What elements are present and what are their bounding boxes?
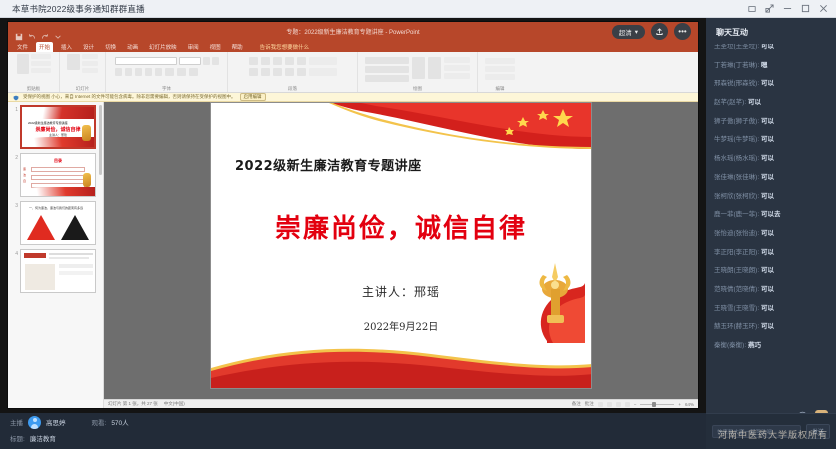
- list-item: 丁若琳(丁若琳): 嗯: [714, 63, 828, 70]
- quality-label: 超清: [619, 27, 632, 37]
- tab-home[interactable]: 开始: [36, 42, 53, 52]
- current-slide[interactable]: 2022级新生廉洁教育专题讲座 崇廉尚俭，诚信自律 主讲人：邢瑶 2022年9月…: [210, 102, 592, 389]
- chat-header: 聊天互动: [706, 18, 836, 44]
- list-item[interactable]: 2 目录 廉洁自: [10, 153, 101, 197]
- topic-label: 标题:: [10, 433, 25, 443]
- new-slide-icon[interactable]: [67, 54, 80, 70]
- popout-icon[interactable]: [765, 4, 774, 13]
- normal-view-icon[interactable]: [598, 402, 603, 407]
- slideshow-view-icon[interactable]: [625, 402, 630, 407]
- list-item: 赵芊(赵芊): 可以: [714, 100, 828, 107]
- tab-view[interactable]: 视图: [207, 42, 224, 52]
- ribbon-group-drawing: 绘图: [358, 52, 478, 92]
- avatar[interactable]: [28, 416, 41, 429]
- bold-icon[interactable]: [115, 68, 122, 76]
- chat-sender: 鹿一菲(鹿一菲):: [714, 211, 759, 218]
- character-spacing-icon[interactable]: [165, 68, 174, 76]
- window-title: 本草书院2022级事务通知群群直播: [12, 3, 145, 15]
- find-icon[interactable]: [485, 58, 515, 64]
- protected-view-bar: 受保护的视图 小心，来自 Internet 的文件可能包含病毒。除非您需要编辑，…: [8, 93, 698, 102]
- chevron-down-icon: ▾: [635, 28, 638, 36]
- chat-sender: 邢森锐(邢森锐):: [714, 80, 759, 87]
- ribbon-group-label: 编辑: [496, 86, 505, 92]
- more-options-button[interactable]: •••: [674, 23, 691, 40]
- chat-text: 可以: [761, 193, 774, 200]
- chat-text: 可以: [761, 323, 774, 330]
- chat-text: 可以: [761, 44, 774, 50]
- slide-main-title: 崇廉尚俭，诚信自律: [211, 208, 591, 245]
- list-item: 邢森锐(邢森锐): 可以: [714, 81, 828, 88]
- slide-thumbnail-1[interactable]: 2022级新生廉洁教育专题讲座 崇廉尚俭，诚信自律 主讲人：邢瑶: [20, 105, 96, 149]
- ribbon-group-label: 绘图: [413, 86, 422, 92]
- minimize-icon[interactable]: [783, 4, 792, 13]
- list-item: 张佳琳(张佳琳): 可以: [714, 175, 828, 182]
- slide-canvas-area[interactable]: 2022级新生廉洁教育专题讲座 崇廉尚俭，诚信自律 主讲人：邢瑶 2022年9月…: [104, 102, 698, 408]
- chat-input[interactable]: 快来和大家一起互动吧: [712, 425, 801, 438]
- share-button[interactable]: [651, 23, 668, 40]
- chat-text: 燕巧: [748, 342, 761, 349]
- chat-sender: 杨水瑶(杨水瑶):: [714, 155, 759, 162]
- zoom-out-icon[interactable]: −: [634, 402, 637, 407]
- quality-selector[interactable]: 超清 ▾: [612, 25, 645, 39]
- status-right-group: 备注 批注 − + 64%: [572, 401, 694, 407]
- chat-text: 可以: [761, 136, 774, 143]
- list-item: 土圣垃(土圣垃): 可以: [714, 44, 828, 51]
- slide-top-decoration: [211, 103, 591, 149]
- chat-sender: 张柯欣(张柯欣):: [714, 193, 759, 200]
- reading-view-icon[interactable]: [616, 402, 621, 407]
- bullets-icon[interactable]: [249, 57, 258, 65]
- tab-help[interactable]: 帮助: [229, 42, 246, 52]
- italic-icon[interactable]: [125, 68, 132, 76]
- tab-insert[interactable]: 插入: [58, 42, 75, 52]
- decrease-font-icon[interactable]: [212, 57, 219, 65]
- font-name-box[interactable]: [115, 57, 177, 65]
- arrange-icon[interactable]: [412, 57, 425, 79]
- chat-sender: 秦衡(秦衡):: [714, 342, 746, 349]
- powerpoint-window: 专题：2022级新生廉洁教育专题讲座 - PowerPoint 超清 ▾ •••…: [8, 22, 698, 408]
- chat-sender: 范晓倩(范晓倩):: [714, 286, 759, 293]
- host-row: 主播 高思婷 观看: 570人: [0, 413, 706, 431]
- sorter-view-icon[interactable]: [607, 402, 612, 407]
- list-item: 牛梦瑶(牛梦瑶): 可以: [714, 137, 828, 144]
- chat-sender: 狮子傲(狮子傲):: [714, 118, 759, 125]
- chat-sender: 王晓朗(王晓朗):: [714, 267, 759, 274]
- shape-outline-icon[interactable]: [444, 65, 470, 71]
- thumbnail-number: 1: [10, 105, 18, 113]
- slide-thumbnail-pane[interactable]: 1 2022级新生廉洁教育专题讲座 崇廉尚俭，诚信自律 主讲人：邢瑶 2: [8, 102, 104, 408]
- notes-button[interactable]: 备注: [572, 401, 581, 407]
- ribbon-group-font: 字体: [106, 52, 228, 92]
- chat-text: 可以: [748, 99, 761, 106]
- ribbon-group-paragraph: 段落: [228, 52, 358, 92]
- font-size-box[interactable]: [179, 57, 201, 65]
- tab-design[interactable]: 设计: [80, 42, 97, 52]
- redo-icon[interactable]: [41, 28, 49, 36]
- replace-icon[interactable]: [485, 66, 515, 72]
- customize-icon[interactable]: [54, 28, 62, 36]
- shape-effects-icon[interactable]: [444, 73, 470, 79]
- window-controls: [748, 4, 828, 13]
- slide-speaker: 主讲人：邢瑶: [211, 283, 591, 300]
- shapes-gallery-row2[interactable]: [365, 66, 409, 73]
- powerpoint-title-bar: 专题：2022级新生廉洁教育专题讲座 - PowerPoint 超清 ▾ •••: [8, 22, 698, 41]
- ribbon-group-slides: 幻灯片: [60, 52, 106, 92]
- thumbnail-scrollbar[interactable]: [99, 105, 102, 175]
- convert-smartart-icon[interactable]: [309, 68, 337, 76]
- align-right-icon[interactable]: [273, 68, 282, 76]
- numbering-icon[interactable]: [261, 57, 270, 65]
- list-item: 王晓雪(王晓雪): 可以: [714, 306, 828, 313]
- language-indicator[interactable]: 中文(中国): [164, 401, 185, 407]
- zoom-level[interactable]: 64%: [685, 402, 694, 407]
- text-direction-icon[interactable]: [309, 57, 337, 65]
- increase-font-icon[interactable]: [203, 57, 210, 65]
- meeting-actions: 超清 ▾ •••: [612, 23, 691, 40]
- shape-fill-icon[interactable]: [444, 57, 470, 63]
- chat-text: 可以: [761, 80, 774, 87]
- paste-icon[interactable]: [17, 54, 29, 74]
- thumbnail-number: 2: [10, 153, 18, 161]
- tab-transitions[interactable]: 切换: [102, 42, 119, 52]
- list-item[interactable]: 1 2022级新生廉洁教育专题讲座 崇廉尚俭，诚信自律 主讲人：邢瑶: [10, 105, 101, 149]
- ribbon: 剪贴板 幻灯片: [8, 52, 698, 93]
- chat-input-bar: 快来和大家一起互动吧 发送: [706, 413, 836, 449]
- chat-sender: 赵芊(赵芊):: [714, 99, 746, 106]
- format-painter-icon[interactable]: [31, 68, 51, 73]
- enable-editing-button[interactable]: 启用编辑: [240, 93, 266, 101]
- chat-sender: 张怡迪(张怡迪):: [714, 230, 759, 237]
- powerpoint-body: 1 2022级新生廉洁教育专题讲座 崇廉尚俭，诚信自律 主讲人：邢瑶 2: [8, 102, 698, 408]
- increase-indent-icon[interactable]: [285, 57, 294, 65]
- chat-text: 可以: [761, 118, 774, 125]
- slide-bottom-decoration: [211, 340, 591, 388]
- chat-sender: 丁若琳(丁若琳):: [714, 62, 759, 69]
- ribbon-group-label: 字体: [162, 86, 171, 92]
- shapes-gallery-row3[interactable]: [365, 75, 409, 82]
- topic-value: 廉洁教育: [30, 433, 56, 443]
- maximize-icon[interactable]: [801, 4, 810, 13]
- ribbon-group-label: 剪贴板: [27, 86, 41, 92]
- ribbon-group-clipboard: 剪贴板: [8, 52, 60, 92]
- align-center-icon[interactable]: [261, 68, 270, 76]
- chat-text: 可以: [761, 286, 774, 293]
- section-icon[interactable]: [82, 68, 98, 73]
- close-icon[interactable]: [819, 4, 828, 13]
- strikethrough-icon[interactable]: [145, 68, 152, 76]
- zoom-slider-handle[interactable]: [652, 402, 656, 407]
- line-spacing-icon[interactable]: [297, 57, 306, 65]
- thumbnail-number: 4: [10, 249, 18, 257]
- thumbnail-number: 3: [10, 201, 18, 209]
- shapes-gallery-row1[interactable]: [365, 57, 409, 64]
- chat-text: 嗯: [761, 62, 768, 69]
- viewers-count: 570人: [111, 417, 128, 427]
- justify-icon[interactable]: [285, 68, 294, 76]
- font-color-icon[interactable]: [189, 68, 198, 76]
- quick-styles-icon[interactable]: [428, 57, 441, 79]
- slide-thumbnail-4[interactable]: [20, 249, 96, 293]
- powerpoint-document-title: 专题：2022级新生廉洁教育专题讲座 - PowerPoint: [8, 27, 698, 36]
- tab-review[interactable]: 审阅: [185, 42, 202, 52]
- list-item: 赫玉环(赫玉环): 可以: [714, 324, 828, 331]
- list-item: 鹿一菲(鹿一菲): 可以去: [714, 212, 828, 219]
- align-left-icon[interactable]: [249, 68, 258, 76]
- tab-slideshow[interactable]: 幻灯片放映: [146, 42, 180, 52]
- screenshot-icon[interactable]: [748, 5, 756, 13]
- list-item: 张怡迪(张怡迪): 可以: [714, 231, 828, 238]
- slide-thumbnail-2[interactable]: 目录 廉洁自: [20, 153, 96, 197]
- tell-me-search[interactable]: 告诉我您想要做什么: [257, 42, 313, 52]
- window-title-bar: 本草书院2022级事务通知群群直播: [0, 0, 836, 18]
- list-item: 杨水瑶(杨水瑶): 可以: [714, 156, 828, 163]
- layout-icon[interactable]: [82, 54, 98, 59]
- underline-icon[interactable]: [135, 68, 142, 76]
- chat-message-list[interactable]: 土圣垃(土圣垃): 可以 丁若琳(丁若琳): 嗯 邢森锐(邢森锐): 可以 赵芊…: [706, 44, 836, 406]
- protected-view-text: 受保护的视图 小心，来自 Internet 的文件可能包含病毒。除非您需要编辑，…: [23, 94, 236, 100]
- tab-file[interactable]: 文件: [14, 42, 31, 52]
- live-stream-window: 本草书院2022级事务通知群群直播: [0, 0, 836, 449]
- chat-sender: 张佳琳(张佳琳):: [714, 174, 759, 181]
- chat-panel: 聊天互动 土圣垃(土圣垃): 可以 丁若琳(丁若琳): 嗯 邢森锐(邢森锐): …: [706, 18, 836, 449]
- chat-text: 可以: [761, 305, 774, 312]
- chat-sender: 李正阳(李正阳):: [714, 249, 759, 256]
- list-item[interactable]: 3 一、何为廉洁，廉洁与我们的距离有多远: [10, 201, 101, 245]
- chat-sender: 牛梦瑶(牛梦瑶):: [714, 136, 759, 143]
- ribbon-group-label: 段落: [288, 86, 297, 92]
- slide-thumbnail-3[interactable]: 一、何为廉洁，廉洁与我们的距离有多远: [20, 201, 96, 245]
- host-name: 高思婷: [46, 417, 66, 427]
- shared-screen-stage: 专题：2022级新生廉洁教育专题讲座 - PowerPoint 超清 ▾ •••…: [0, 18, 706, 413]
- shadow-icon[interactable]: [155, 68, 162, 76]
- zoom-in-icon[interactable]: +: [678, 402, 681, 407]
- chat-text: 可以: [761, 249, 774, 256]
- quick-access-toolbar: [15, 28, 62, 36]
- select-icon[interactable]: [485, 74, 515, 80]
- ribbon-tabs: 文件 开始 插入 设计 切换 动画 幻灯片放映 审阅 视图 帮助 告诉我您想要做…: [8, 41, 698, 52]
- cut-icon[interactable]: [31, 54, 51, 59]
- slide-position-indicator: 幻灯片 第 1 张，共 27 张: [108, 401, 158, 407]
- chat-text: 可以: [761, 155, 774, 162]
- list-item: 张柯欣(张柯欣): 可以: [714, 194, 828, 201]
- list-item: 王晓朗(王晓朗): 可以: [714, 268, 828, 275]
- zoom-slider[interactable]: [640, 404, 674, 405]
- tab-animations[interactable]: 动画: [124, 42, 141, 52]
- chat-text: 可以: [761, 230, 774, 237]
- powerpoint-status-bar: 幻灯片 第 1 张，共 27 张 中文(中国) 备注 批注 − + 64%: [104, 399, 698, 408]
- viewers-label: 观看:: [92, 417, 107, 427]
- undo-icon[interactable]: [28, 28, 36, 36]
- save-icon[interactable]: [15, 28, 23, 36]
- list-item: 狮子傲(狮子傲): 可以: [714, 119, 828, 126]
- list-item: 秦衡(秦衡): 燕巧: [714, 343, 828, 350]
- ribbon-group-label: 幻灯片: [76, 86, 90, 92]
- list-item[interactable]: 4: [10, 249, 101, 293]
- slide-date: 2022年9月22日: [211, 318, 591, 333]
- comments-button[interactable]: 批注: [585, 401, 594, 407]
- chat-text: 可以: [761, 174, 774, 181]
- reset-icon[interactable]: [82, 61, 98, 66]
- topic-row: 标题: 廉洁教育: [0, 431, 706, 445]
- columns-icon[interactable]: [297, 68, 306, 76]
- chat-sender: 赫玉环(赫玉环):: [714, 323, 759, 330]
- change-case-icon[interactable]: [177, 68, 186, 76]
- chat-sender: 土圣垃(土圣垃):: [714, 44, 759, 50]
- live-status-bar: 主播 高思婷 观看: 570人 标题: 廉洁教育: [0, 413, 706, 449]
- host-label: 主播: [10, 417, 23, 427]
- chat-text: 可以去: [761, 211, 781, 218]
- list-item: 范晓倩(范晓倩): 可以: [714, 287, 828, 294]
- slide-heading: 2022级新生廉洁教育专题讲座: [235, 155, 422, 174]
- list-item: 李正阳(李正阳): 可以: [714, 250, 828, 257]
- copy-icon[interactable]: [31, 61, 51, 66]
- chat-text: 可以: [761, 267, 774, 274]
- chat-sender: 王晓雪(王晓雪):: [714, 305, 759, 312]
- send-button[interactable]: 发送: [806, 424, 830, 439]
- decrease-indent-icon[interactable]: [273, 57, 282, 65]
- ribbon-group-editing: 编辑: [478, 52, 522, 92]
